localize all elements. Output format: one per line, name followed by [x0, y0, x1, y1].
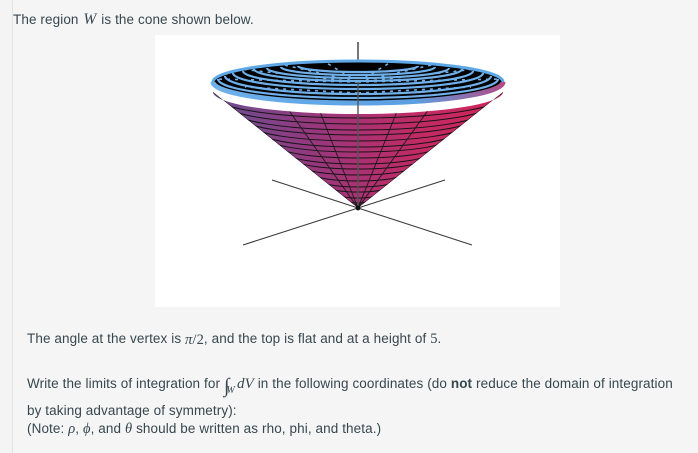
note-suffix: should be written as rho, phi, and theta…	[132, 421, 381, 436]
angle-text-part1: The angle at the vertex is	[27, 331, 185, 346]
emphasis-not: not	[451, 376, 472, 391]
integral-subscript-W: W	[227, 385, 235, 396]
angle-text-part2: , and the top is flat and at a height of	[204, 331, 430, 346]
note-paragraph: (Note: ρ, ϕ, and θ should be written as …	[27, 419, 675, 439]
intro-text-before: The region	[13, 12, 82, 27]
pi-over-two: π/2	[185, 330, 204, 350]
write-text-part1: Write the limits of integration for	[27, 376, 224, 391]
two-symbol: 2	[197, 332, 204, 348]
note-comma-1: ,	[75, 421, 83, 436]
instruction-paragraph: Write the limits of integration for ∫WdV…	[27, 374, 675, 421]
cone-vertex-point	[356, 206, 361, 211]
phi-symbol: ϕ	[83, 421, 91, 437]
region-variable-W: W	[82, 11, 97, 28]
note-prefix: (Note:	[27, 421, 68, 436]
page-root: The region W is the cone shown below.	[0, 0, 698, 453]
note-comma-2: , and	[91, 421, 125, 436]
write-text-part2: in the following coordinates (do	[254, 376, 451, 391]
cone-figure-panel	[155, 35, 560, 307]
height-value: 5	[430, 331, 437, 347]
integral-dv: dV	[237, 376, 254, 392]
angle-text-part3: .	[438, 331, 442, 346]
angle-description: The angle at the vertex is π/2, and the …	[27, 329, 667, 350]
intro-line: The region W is the cone shown below.	[13, 11, 254, 29]
cone-figure-svg	[155, 35, 560, 307]
intro-text-after: is the cone shown below.	[97, 12, 253, 27]
